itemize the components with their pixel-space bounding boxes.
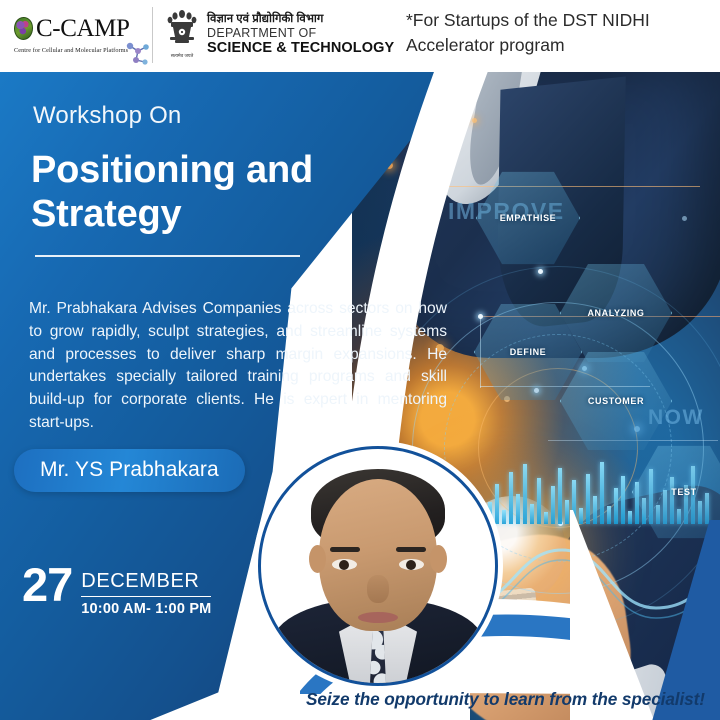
cell-logo-icon <box>14 17 33 40</box>
event-poster: IMPROVE NOW EMPATHISE ANALYZING DEFINE C… <box>0 0 720 720</box>
dst-hindi-name: विज्ञान एवं प्रौद्योगिकी विभाग <box>207 13 394 26</box>
hexagon-label: CUSTOMER <box>588 396 644 406</box>
dst-line-2: SCIENCE & TECHNOLOGY <box>207 40 394 56</box>
emblem-svg <box>165 8 199 52</box>
speaker-description: Mr. Prabhakara Advises Companies across … <box>29 298 447 435</box>
speaker-name-badge: Mr. YS Prabhakara <box>14 449 245 492</box>
page-title: Positioning and Strategy <box>31 148 361 237</box>
dst-text-block: विज्ञान एवं प्रौद्योगिकी विभाग DEPARTMEN… <box>207 13 394 56</box>
emblem-caption: सत्यमेव जयते <box>171 53 193 59</box>
ccamp-wordmark-row: C-CAMP <box>14 16 138 41</box>
ccamp-tagline: Centre for Cellular and Molecular Platfo… <box>14 47 138 54</box>
event-date-block: 27 DECEMBER 10:00 AM- 1:00 PM <box>22 563 211 617</box>
connector-node-3 <box>538 269 543 274</box>
logo-group: C-CAMP Centre for Cellular and Molecular… <box>14 6 394 64</box>
event-time: 10:00 AM- 1:00 PM <box>81 601 211 617</box>
hexagon-label: ANALYZING <box>587 308 644 318</box>
workshop-eyebrow: Workshop On <box>33 102 182 130</box>
hexagon-label: TEST <box>671 487 696 497</box>
event-date-details: DECEMBER 10:00 AM- 1:00 PM <box>81 563 211 617</box>
panel-content: Workshop On Positioning and Strategy Mr.… <box>0 66 470 720</box>
hexagon-label: EMPATHISE <box>500 213 557 223</box>
dst-logo: सत्यमेव जयते विज्ञान एवं प्रौद्योगिकी वि… <box>152 7 394 63</box>
date-time-divider <box>81 596 211 597</box>
molecule-icon <box>122 40 152 66</box>
startup-eligibility-note: *For Startups of the DST NIDHI Accelerat… <box>406 8 712 58</box>
dst-line-1: DEPARTMENT OF <box>207 26 394 40</box>
bokeh-particle <box>472 118 477 123</box>
bokeh-particle <box>682 216 687 221</box>
footer-tagline: Seize the opportunity to learn from the … <box>306 689 706 710</box>
poster-header: C-CAMP Centre for Cellular and Molecular… <box>0 0 720 72</box>
connector-node-2 <box>478 314 483 319</box>
hexagon-label: DEFINE <box>510 347 547 357</box>
ccamp-logo: C-CAMP Centre for Cellular and Molecular… <box>14 6 138 64</box>
event-month: DECEMBER <box>81 570 211 596</box>
ccamp-name: C-CAMP <box>36 16 129 41</box>
title-divider <box>35 255 300 257</box>
ashoka-emblem-icon: सत्यमेव जयते <box>165 8 199 62</box>
event-day: 27 <box>22 563 72 606</box>
